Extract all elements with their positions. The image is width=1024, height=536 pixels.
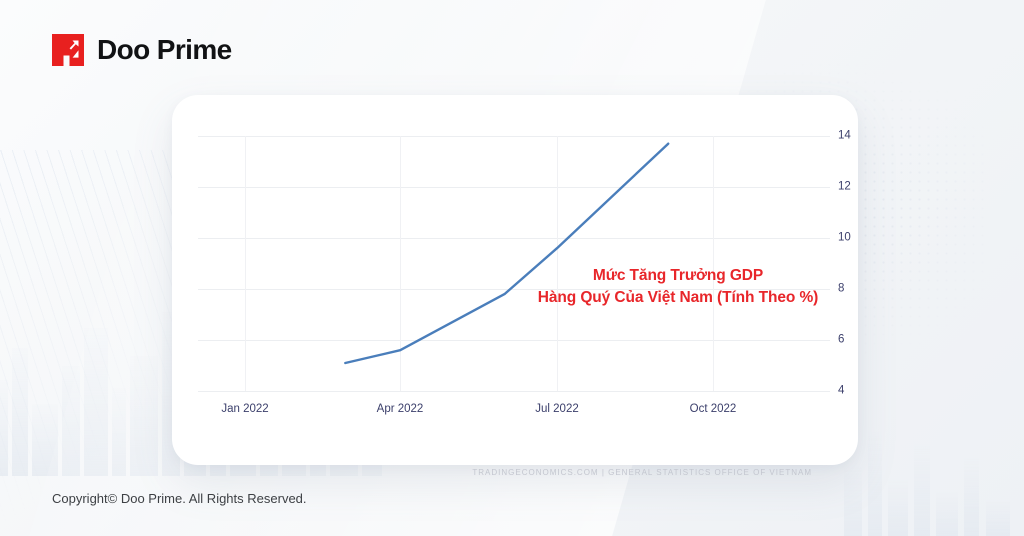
y-axis-tick-label: 6 [838,334,844,346]
x-axis-tick-label: Apr 2022 [377,404,424,416]
x-axis-tick-label: Jul 2022 [535,404,578,416]
chart-source-attribution: TRADINGECONOMICS.COM | GENERAL STATISTIC… [472,468,812,477]
doo-prime-logo-icon [52,34,84,66]
y-axis-tick-label: 10 [838,232,851,244]
y-axis-tick-label: 4 [838,385,844,397]
brand-header: Doo Prime [52,34,232,66]
footer-copyright: Copyright© Doo Prime. All Rights Reserve… [52,491,307,506]
x-axis-tick-label: Jan 2022 [221,404,268,416]
chart-card: 14 12 10 8 6 4 Jan 2022 Apr 2022 Jul 202… [172,95,858,465]
gridline-horizontal [198,391,830,392]
y-axis-tick-label: 14 [838,130,851,142]
annotation-line-2: Hàng Quý Của Việt Nam (Tính Theo %) [508,287,848,309]
y-axis-tick-label: 12 [838,181,851,193]
brand-wordmark: Doo Prime [97,36,232,64]
chart-plot-area: 14 12 10 8 6 4 Jan 2022 Apr 2022 Jul 202… [198,136,830,391]
x-axis-tick-label: Oct 2022 [690,404,737,416]
chart-annotation: Mức Tăng Trưởng GDP Hàng Quý Của Việt Na… [508,265,848,310]
gdp-growth-line-series [198,136,830,391]
annotation-line-1: Mức Tăng Trưởng GDP [508,265,848,287]
background-bars-right [834,296,1024,536]
